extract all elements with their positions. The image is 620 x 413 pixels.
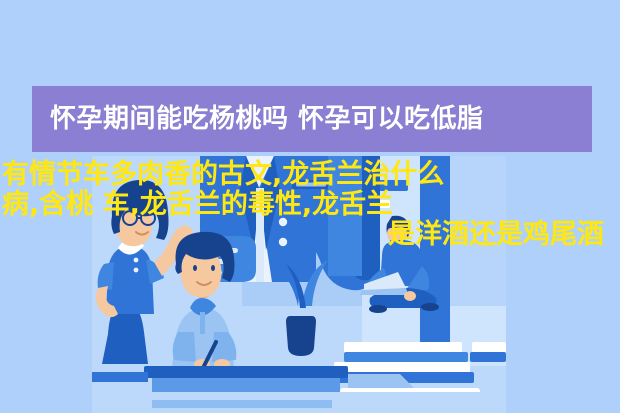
boy-placket <box>200 312 205 334</box>
right-book-cover <box>470 352 506 362</box>
boy-eye-left <box>193 265 197 271</box>
woman-blouse <box>106 246 154 314</box>
overlay-text-line-2: 病,含桃 车,龙舌兰的毒性,龙舌兰 <box>0 190 620 220</box>
woman-button-2 <box>134 268 139 273</box>
screenshot-canvas: 怀孕期间能吃杨桃吗 怀孕可以吃低脂 有情节车多肉香的古文,龙舌兰治什么 病,含桃… <box>0 0 620 413</box>
desk-left-extension <box>92 372 148 382</box>
book-1-cover <box>344 352 468 362</box>
overlay-text-block: 有情节车多肉香的古文,龙舌兰治什么 病,含桃 车,龙舌兰的毒性,龙舌兰 是洋酒还… <box>0 160 620 250</box>
title-banner: 怀孕期间能吃杨桃吗 怀孕可以吃低脂 <box>32 86 592 152</box>
boy-arm-left <box>173 332 196 362</box>
banner-title-text: 怀孕期间能吃杨桃吗 怀孕可以吃低脂 <box>32 106 484 132</box>
plant-vase <box>286 316 316 356</box>
laptop-person-shoe-left <box>369 305 387 313</box>
overlay-text-line-3: 是洋酒还是鸡尾酒 <box>0 220 620 250</box>
boy-eye-right <box>211 265 215 271</box>
overlay-text-line-1: 有情节车多肉香的古文,龙舌兰治什么 <box>0 160 620 190</box>
woman-button-1 <box>134 258 139 263</box>
desk-top <box>144 366 348 378</box>
desk-shadow <box>152 400 332 408</box>
laptop-person-shoe-right <box>421 303 439 311</box>
laptop-person-hand <box>404 291 416 301</box>
